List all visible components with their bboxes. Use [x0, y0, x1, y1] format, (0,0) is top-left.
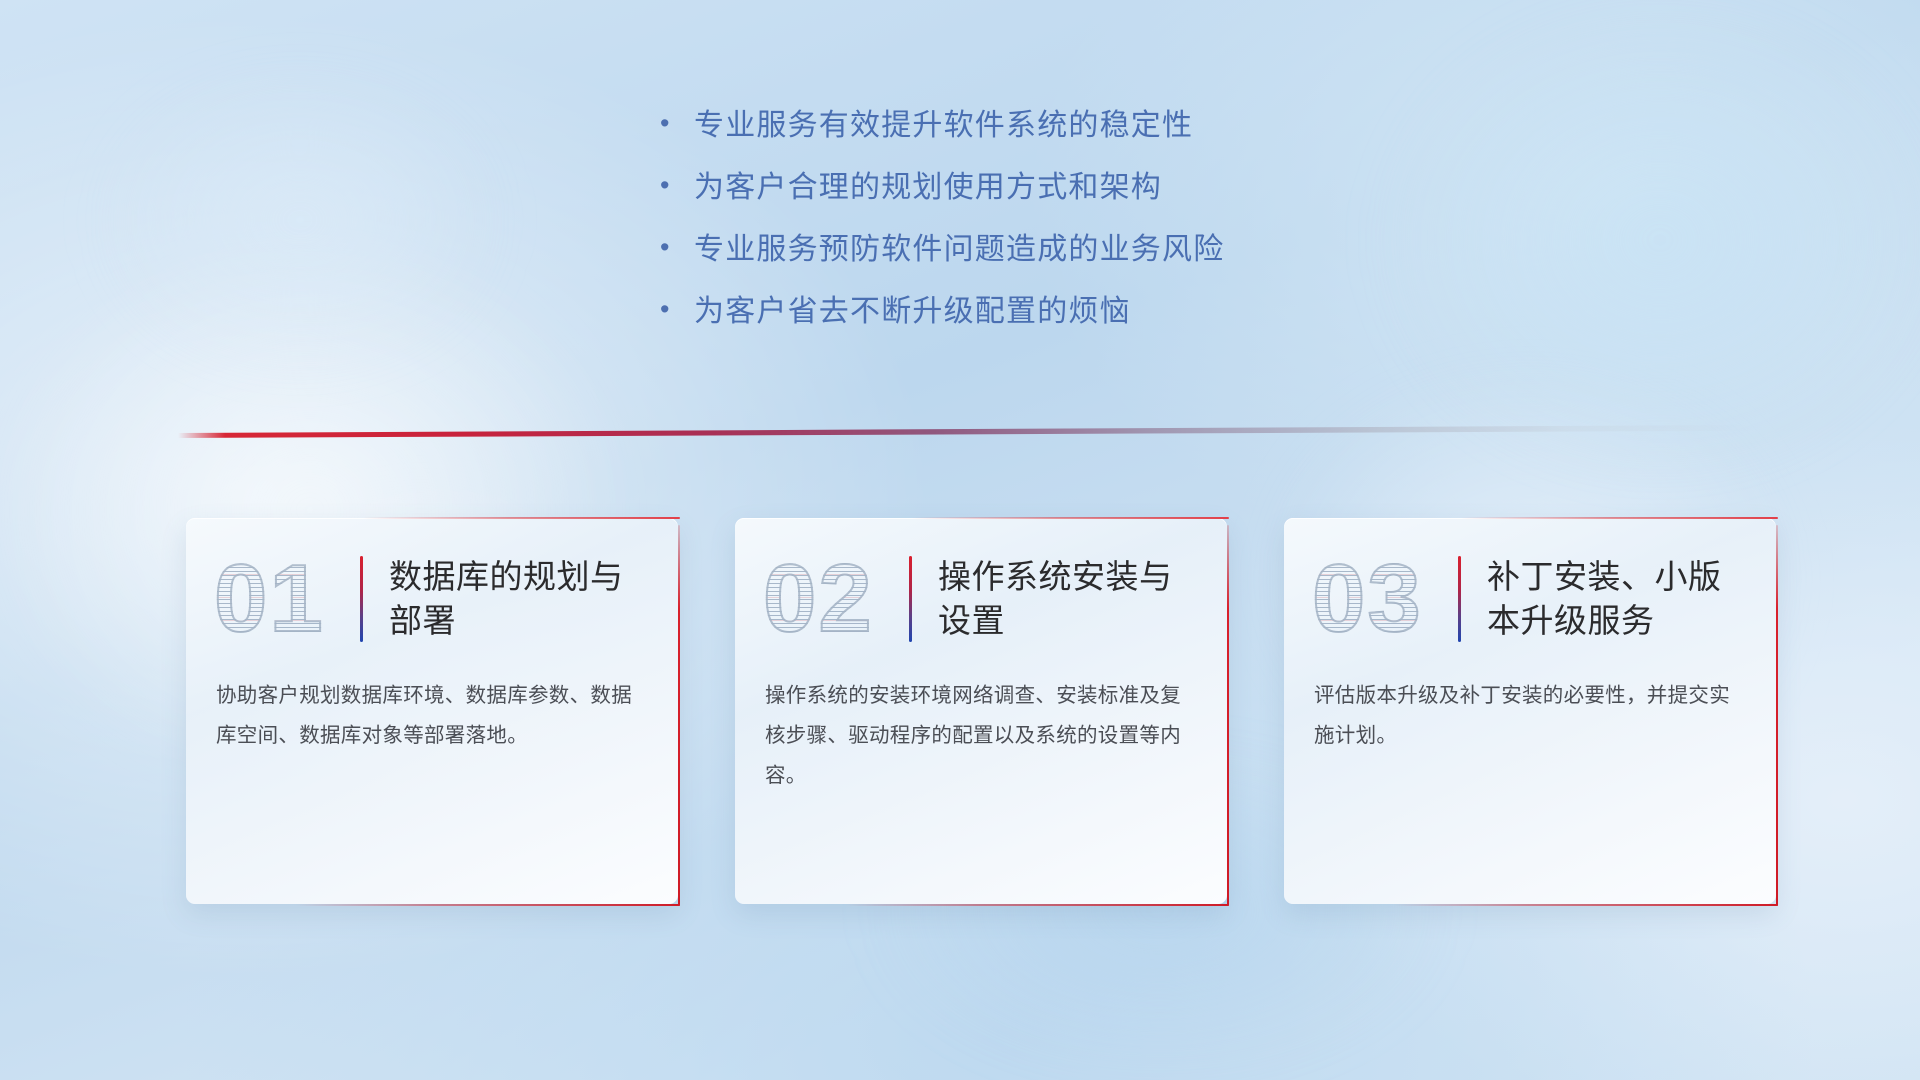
card-body-text: 评估版本升级及补丁安装的必要性，并提交实施计划。: [1284, 658, 1776, 756]
bullet-dot-icon: •: [660, 234, 694, 261]
card-accent-right: [678, 525, 680, 906]
bullet-text: 为客户省去不断升级配置的烦恼: [694, 294, 1131, 330]
card-accent-right: [1776, 525, 1778, 906]
card-accent-bottom: [296, 904, 680, 906]
card-header: 01 数据库的规划与部署: [186, 518, 678, 658]
service-card-02[interactable]: 02 操作系统安装与设置 操作系统的安装环境网络调查、安装标准及复核步骤、驱动程…: [735, 518, 1227, 904]
section-divider: [178, 425, 1753, 438]
card-body-text: 操作系统的安装环境网络调查、安装标准及复核步骤、驱动程序的配置以及系统的设置等内…: [735, 658, 1227, 796]
bullet-text: 专业服务预防软件问题造成的业务风险: [694, 232, 1224, 268]
card-separator-rule: [360, 556, 363, 642]
bullet-dot-icon: •: [660, 172, 694, 199]
card-number: 02: [763, 551, 903, 647]
card-accent-bottom: [845, 904, 1229, 906]
card-accent-right: [1227, 525, 1229, 906]
bullet-text: 专业服务有效提升软件系统的稳定性: [694, 108, 1193, 144]
card-accent-top: [1461, 517, 1778, 519]
card-header: 03 补丁安装、小版本升级服务: [1284, 518, 1776, 658]
list-item: • 为客户合理的规划使用方式和架构: [660, 170, 1480, 206]
card-title: 数据库的规划与部署: [389, 555, 650, 642]
card-accent-top: [363, 517, 680, 519]
card-number: 03: [1312, 551, 1452, 647]
benefits-bullet-list: • 专业服务有效提升软件系统的稳定性 • 为客户合理的规划使用方式和架构 • 专…: [660, 108, 1480, 356]
divider-gradient-bar: [178, 425, 1753, 438]
slide-canvas: • 专业服务有效提升软件系统的稳定性 • 为客户合理的规划使用方式和架构 • 专…: [0, 0, 1920, 1080]
card-header: 02 操作系统安装与设置: [735, 518, 1227, 658]
service-card-row: 01 数据库的规划与部署 协助客户规划数据库环境、数据库参数、数据库空间、数据库…: [186, 518, 1776, 904]
card-number: 01: [214, 551, 354, 647]
bullet-dot-icon: •: [660, 110, 694, 137]
card-separator-rule: [1458, 556, 1461, 642]
list-item: • 专业服务预防软件问题造成的业务风险: [660, 232, 1480, 268]
list-item: • 为客户省去不断升级配置的烦恼: [660, 294, 1480, 330]
card-body-text: 协助客户规划数据库环境、数据库参数、数据库空间、数据库对象等部署落地。: [186, 658, 678, 756]
card-separator-rule: [909, 556, 912, 642]
list-item: • 专业服务有效提升软件系统的稳定性: [660, 108, 1480, 144]
background-bloom-topleft: [40, 30, 560, 410]
card-title: 操作系统安装与设置: [938, 555, 1199, 642]
bullet-dot-icon: •: [660, 296, 694, 323]
service-card-03[interactable]: 03 补丁安装、小版本升级服务 评估版本升级及补丁安装的必要性，并提交实施计划。: [1284, 518, 1776, 904]
card-accent-top: [912, 517, 1229, 519]
service-card-01[interactable]: 01 数据库的规划与部署 协助客户规划数据库环境、数据库参数、数据库空间、数据库…: [186, 518, 678, 904]
card-accent-bottom: [1394, 904, 1778, 906]
card-title: 补丁安装、小版本升级服务: [1487, 555, 1748, 642]
bullet-text: 为客户合理的规划使用方式和架构: [694, 170, 1162, 206]
